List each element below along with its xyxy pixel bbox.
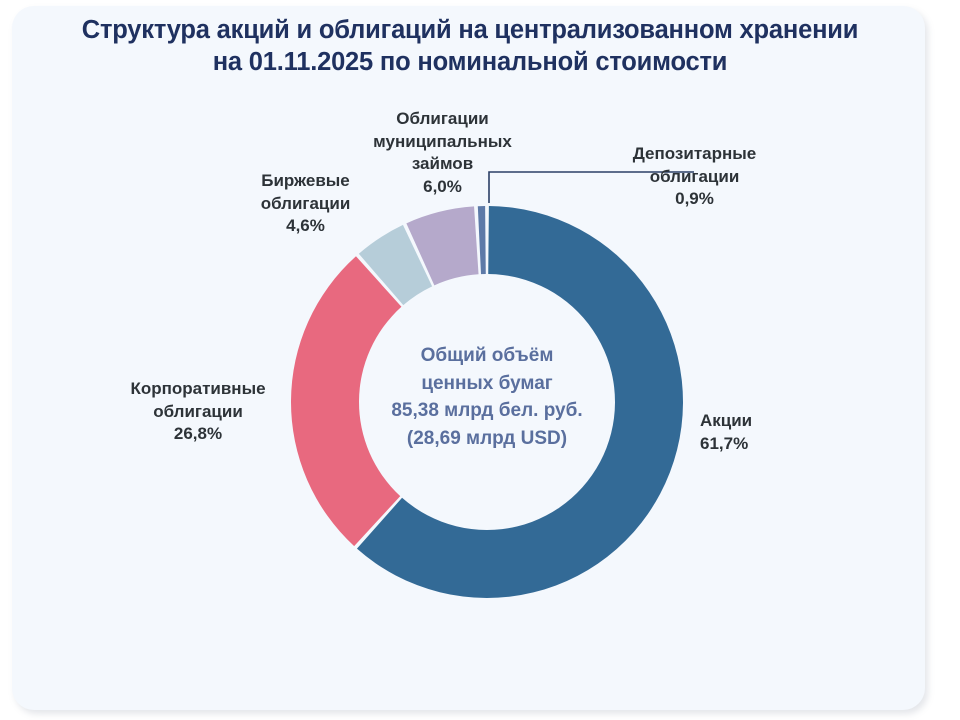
munic-line-2: муниципальных [340, 131, 545, 154]
exch-line-2: облигации [223, 193, 388, 216]
slice-label-corporate-bonds: Корпоративные облигации 26,8% [98, 378, 298, 446]
slice-label-exchange-bonds: Биржевые облигации 4,6% [223, 170, 388, 238]
munic-line-1: Облигации [340, 108, 545, 131]
chart-canvas: Структура акций и облигаций на централиз… [0, 0, 960, 720]
deposit-value: 0,9% [592, 188, 797, 211]
donut-slice[interactable] [478, 206, 486, 274]
corp-line-2: облигации [98, 401, 298, 424]
donut-center-text: Общий объём ценных бумаг 85,38 млрд бел.… [347, 342, 627, 452]
corp-line-1: Корпоративные [98, 378, 298, 401]
slice-label-shares: Акции 61,7% [700, 410, 830, 455]
center-line-3: 85,38 млрд бел. руб. [347, 397, 627, 425]
corp-value: 26,8% [98, 423, 298, 446]
center-line-2: ценных бумаг [347, 370, 627, 398]
center-line-4: (28,69 млрд USD) [347, 425, 627, 453]
center-line-1: Общий объём [347, 342, 627, 370]
exch-value: 4,6% [223, 215, 388, 238]
exch-line-1: Биржевые [223, 170, 388, 193]
shares-line-1: Акции [700, 410, 830, 433]
slice-label-depositary-bonds: Депозитарные облигации 0,9% [592, 143, 797, 211]
deposit-line-2: облигации [592, 166, 797, 189]
deposit-line-1: Депозитарные [592, 143, 797, 166]
shares-value: 61,7% [700, 433, 830, 456]
